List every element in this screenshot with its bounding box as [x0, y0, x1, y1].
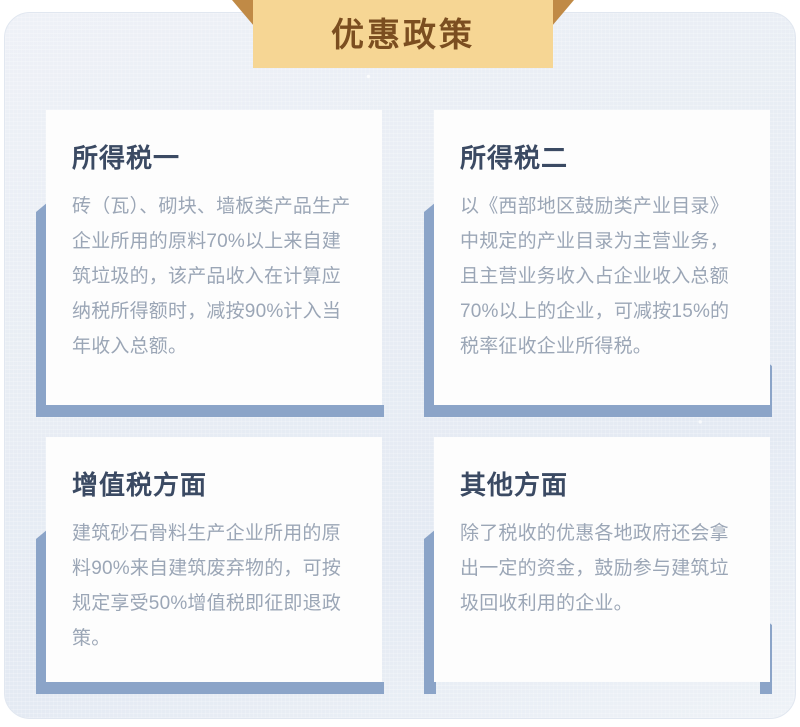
card-body-text: 以《西部地区鼓励类产业目录》中规定的产业目录为主营业务，且主营业务收入占企业收入…	[460, 189, 744, 364]
policy-card-income-tax-2[interactable]: 所得税二 以《西部地区鼓励类产业目录》中规定的产业目录为主营业务，且主营业务收入…	[424, 110, 770, 405]
policy-card-vat[interactable]: 增值税方面 建筑砂石骨料生产企业所用的原料90%来自建筑废弃物的，可按规定享受5…	[36, 437, 382, 682]
card-title: 所得税一	[72, 144, 356, 173]
card-shadow-bottom	[424, 405, 772, 417]
card-body-text: 建筑砂石骨料生产企业所用的原料90%来自建筑废弃物的，可按规定享受50%增值税即…	[72, 516, 356, 656]
card-title: 增值税方面	[72, 471, 356, 500]
card-body-text: 除了税收的优惠各地政府还会拿出一定的资金，鼓励参与建筑垃圾回收利用的企业。	[460, 516, 744, 621]
card-surface: 所得税一 砖（瓦）、砌块、墙板类产品生产企业所用的原料70%以上来自建筑垃圾的，…	[46, 110, 382, 405]
header-ribbon-banner: 优惠政策	[253, 0, 553, 68]
card-title: 其他方面	[460, 471, 744, 500]
card-body-text: 砖（瓦）、砌块、墙板类产品生产企业所用的原料70%以上来自建筑垃圾的，该产品收入…	[72, 189, 356, 364]
policy-card-other[interactable]: 其他方面 除了税收的优惠各地政府还会拿出一定的资金，鼓励参与建筑垃圾回收利用的企…	[424, 437, 770, 682]
policy-card-income-tax-1[interactable]: 所得税一 砖（瓦）、砌块、墙板类产品生产企业所用的原料70%以上来自建筑垃圾的，…	[36, 110, 382, 405]
policy-card-grid: 所得税一 砖（瓦）、砌块、墙板类产品生产企业所用的原料70%以上来自建筑垃圾的，…	[0, 0, 800, 727]
card-title: 所得税二	[460, 144, 744, 173]
card-surface: 其他方面 除了税收的优惠各地政府还会拿出一定的资金，鼓励参与建筑垃圾回收利用的企…	[434, 437, 770, 682]
page-title: 优惠政策	[331, 18, 475, 51]
card-surface: 增值税方面 建筑砂石骨料生产企业所用的原料90%来自建筑废弃物的，可按规定享受5…	[46, 437, 382, 682]
card-shadow-bottom	[36, 682, 384, 694]
ribbon-body: 优惠政策	[253, 0, 553, 68]
card-shadow-bottom	[36, 405, 384, 417]
card-surface: 所得税二 以《西部地区鼓励类产业目录》中规定的产业目录为主营业务，且主营业务收入…	[434, 110, 770, 405]
